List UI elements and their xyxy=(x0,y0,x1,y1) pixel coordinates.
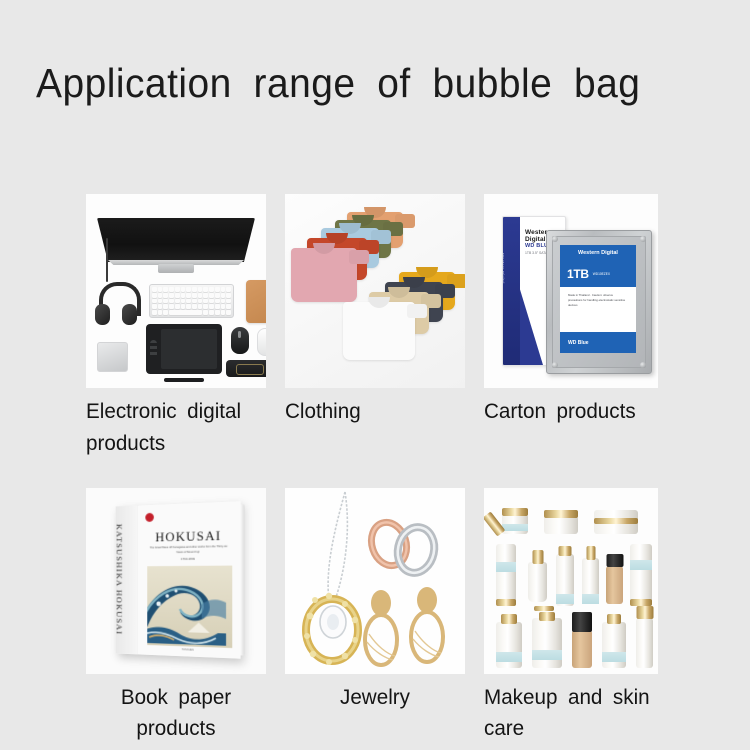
headphone-cable-icon xyxy=(106,238,108,282)
hokusai-book: KATSUSHIKA HOKUSAI HOKUSAI The Great Wav… xyxy=(116,501,241,658)
mousepad-icon xyxy=(246,280,266,323)
shirt-pink xyxy=(291,248,357,302)
page-title: Application range of bubble bag xyxy=(36,62,640,105)
cosmetic-jar-small xyxy=(502,508,528,534)
cosmetic-cone-tube xyxy=(582,546,599,604)
cosmetics-set-photo xyxy=(484,488,658,674)
cosmetic-foundation-black-cap xyxy=(606,554,623,604)
page-root: Application range of bubble bag xyxy=(0,0,750,750)
great-wave-artwork xyxy=(147,565,232,647)
caption-electronic-digital-products: Electronic digital products xyxy=(86,396,259,460)
monitor-stand-icon xyxy=(158,264,194,273)
headphones-icon xyxy=(95,282,137,330)
shirt-white xyxy=(343,302,415,360)
jewelry-set-photo xyxy=(285,488,465,674)
great-wave-icon xyxy=(147,573,226,645)
grid-item-book-paper-products[interactable]: KATSUSHIKA HOKUSAI HOKUSAI The Great Wav… xyxy=(86,488,266,746)
grid-row-2: KATSUSHIKA HOKUSAI HOKUSAI The Great Wav… xyxy=(86,488,664,746)
cosmetic-slim-bottle xyxy=(636,606,653,668)
caption-carton-products: Carton products xyxy=(484,396,651,428)
folded-tshirts-photo xyxy=(285,194,465,388)
cosmetic-bottle-gold-cap xyxy=(602,614,626,668)
wd-box-spec: 1TB 3.5" SATA xyxy=(525,251,547,255)
caption-makeup-and-skin-care: Makeup and skin care xyxy=(484,682,651,746)
cosmetic-pump-bottle-large xyxy=(532,606,562,668)
mount-fuji-icon xyxy=(188,622,210,633)
caption-clothing: Clothing xyxy=(285,396,458,428)
product-grid: Electronic digital products Cl xyxy=(86,194,664,745)
hokusai-book-photo: KATSUSHIKA HOKUSAI HOKUSAI The Great Wav… xyxy=(86,488,266,674)
wd-box-spine-text: Western Digital xyxy=(502,253,505,343)
cosmetic-dropper-serum xyxy=(528,550,547,602)
wd-hard-drive: Western Digital 1TB WD10EZEX Made in Tha… xyxy=(546,230,652,374)
monitor-screen-icon xyxy=(97,218,255,262)
wd-label-capacity-block: 1TB WD10EZEX xyxy=(560,261,636,287)
book-year: 1760-1849 xyxy=(138,556,241,561)
white-mouse-icon xyxy=(257,328,266,356)
grid-item-clothing[interactable]: Clothing xyxy=(285,194,465,460)
wd-label-capacity: 1TB xyxy=(567,267,589,281)
cosmetic-wide-jar xyxy=(594,510,638,534)
grid-item-jewelry[interactable]: Jewelry xyxy=(285,488,465,746)
hard-drive-carton-photo: Western Digital Western Digital WD BLUE … xyxy=(484,194,658,388)
cosmetic-tube-right xyxy=(630,544,652,606)
book-spine: KATSUSHIKA HOKUSAI xyxy=(116,505,139,654)
cosmetic-cream-jar xyxy=(544,510,578,534)
wd-label-fineprint: Made in Thailand · Caution: observe prec… xyxy=(568,293,628,308)
book-subtitle: The Great Wave off Kanagawa and other wo… xyxy=(149,545,228,556)
external-drive-icon xyxy=(97,342,128,372)
wd-label-model: WD10EZEX xyxy=(593,272,610,277)
wd-drive-label: Western Digital 1TB WD10EZEX Made in Tha… xyxy=(560,245,636,353)
book-spine-text: KATSUSHIKA HOKUSAI xyxy=(115,523,124,635)
electronics-flatlay-photo xyxy=(86,194,266,388)
pencil-case-icon xyxy=(226,360,266,377)
wd-label-brand: Western Digital xyxy=(560,245,636,261)
keyboard-icon xyxy=(149,284,234,318)
book-publisher: TASCHEN xyxy=(138,646,241,653)
gaming-mouse-icon xyxy=(231,327,249,354)
grid-item-carton-products[interactable]: Western Digital Western Digital WD BLUE … xyxy=(484,194,658,460)
cosmetic-foundation-tall xyxy=(572,612,592,668)
jewelry-illustration xyxy=(285,488,465,674)
cosmetic-pump-bottle-small xyxy=(496,614,522,668)
wd-label-series: WD Blue xyxy=(560,332,636,353)
grid-row-1: Electronic digital products Cl xyxy=(86,194,664,460)
stylus-icon xyxy=(164,378,204,382)
grid-item-makeup-and-skin-care[interactable]: Makeup and skin care xyxy=(484,488,658,746)
caption-jewelry: Jewelry xyxy=(289,682,462,714)
grid-item-electronic-digital-products[interactable]: Electronic digital products xyxy=(86,194,266,460)
book-title: HOKUSAI xyxy=(138,527,241,546)
cosmetic-spray-bottle xyxy=(556,546,574,606)
book-front-cover: HOKUSAI The Great Wave off Kanagawa and … xyxy=(138,501,241,658)
drawing-tablet-icon xyxy=(146,324,222,374)
japan-flag-dot-icon xyxy=(145,512,154,521)
cosmetic-tube-left xyxy=(496,544,516,606)
caption-book-paper-products: Book paper products xyxy=(90,682,263,746)
